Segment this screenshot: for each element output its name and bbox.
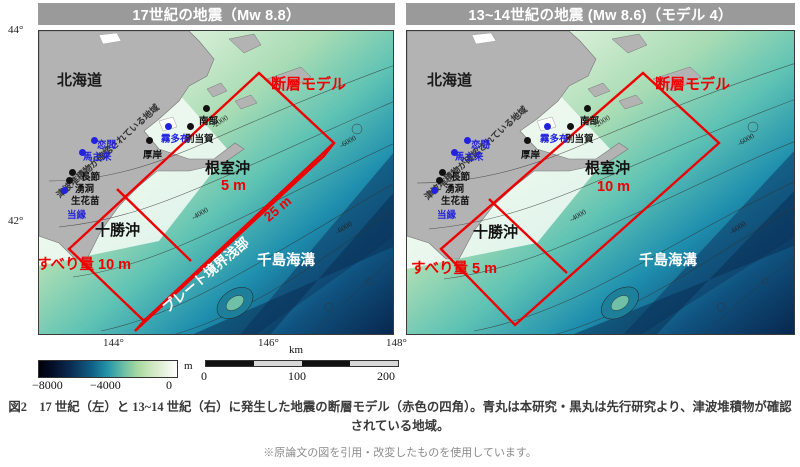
depth-colorbar: m −8000 −4000 0	[38, 360, 178, 394]
scalebar-ticks: 0 100 200	[205, 367, 399, 383]
caption-main: 図2 17 世紀（左）と 13~14 世紀（右）に発生した地震の断層モデル（赤色…	[0, 398, 800, 436]
site-marker-oikamanai[interactable]	[61, 187, 68, 194]
colorbar-gradient	[38, 360, 178, 378]
site-marker-kiritappu[interactable]	[165, 123, 172, 130]
site-marker-akkeshi[interactable]	[146, 137, 153, 144]
panel-left-title: 17世紀の地震（Mw 8.8）	[38, 3, 395, 25]
site-marker-yudo[interactable]	[436, 177, 443, 184]
map-left-canvas	[39, 31, 394, 335]
colorbar-tick-minus4000: −4000	[90, 378, 121, 393]
site-marker-bashukurai[interactable]	[79, 149, 86, 156]
scalebar-tick-0: 0	[201, 369, 207, 384]
axis-lat-42: 42°	[8, 215, 23, 227]
axis-lon-148: 148°	[386, 337, 407, 349]
axis-lat-44: 44°	[8, 24, 23, 36]
site-marker-koitoi[interactable]	[91, 137, 98, 144]
scalebar-tick-100: 100	[288, 369, 306, 384]
site-marker-yudo[interactable]	[66, 177, 73, 184]
site-marker-chobushi[interactable]	[69, 169, 76, 176]
site-marker-bettoga[interactable]	[567, 123, 574, 130]
panel-right: 13~14世紀の地震 (Mw 8.6)（モデル 4）	[406, 0, 796, 400]
site-marker-bettoga[interactable]	[187, 123, 194, 130]
site-marker-chobushi[interactable]	[439, 169, 446, 176]
site-marker-nanbu[interactable]	[584, 105, 591, 112]
distance-scalebar: km 0 100 200	[205, 360, 405, 383]
colorbar-unit-label: m	[184, 360, 193, 372]
map-right-canvas	[407, 31, 795, 335]
axis-lon-144: 144°	[103, 337, 124, 349]
scalebar-unit-label: km	[289, 344, 303, 356]
site-marker-bashukurai[interactable]	[451, 149, 458, 156]
site-marker-koitoi[interactable]	[464, 137, 471, 144]
colorbar-ticks: −8000 −4000 0	[38, 378, 178, 394]
site-marker-kiritappu[interactable]	[544, 123, 551, 130]
scalebar-tick-200: 200	[377, 369, 395, 384]
panel-right-title: 13~14世紀の地震 (Mw 8.6)（モデル 4）	[406, 3, 795, 25]
figure-root: 17世紀の地震（Mw 8.8） 44° 42° 144° 146° 148°	[0, 0, 800, 467]
scalebar-bar	[205, 360, 399, 367]
site-marker-oikamanai[interactable]	[431, 187, 438, 194]
site-marker-nanbu[interactable]	[203, 105, 210, 112]
site-marker-akkeshi[interactable]	[524, 137, 531, 144]
map-left[interactable]: -2000 -4000 -6000 -6000 北海道 津波堆積物が確認されてい…	[38, 30, 394, 335]
caption-note: ※原論文の図を引用・改変したものを使用しています。	[0, 444, 800, 460]
colorbar-tick-minus8000: −8000	[32, 378, 63, 393]
colorbar-tick-zero: 0	[166, 378, 172, 393]
panel-left: 17世紀の地震（Mw 8.8） 44° 42° 144° 146° 148°	[6, 0, 396, 400]
axis-lon-146: 146°	[258, 337, 279, 349]
figure-caption: 図2 17 世紀（左）と 13~14 世紀（右）に発生した地震の断層モデル（赤色…	[0, 398, 800, 460]
map-right[interactable]: -2000 -4000 -6000 -6000 北海道 津波堆積物が確認されてい…	[406, 30, 795, 335]
